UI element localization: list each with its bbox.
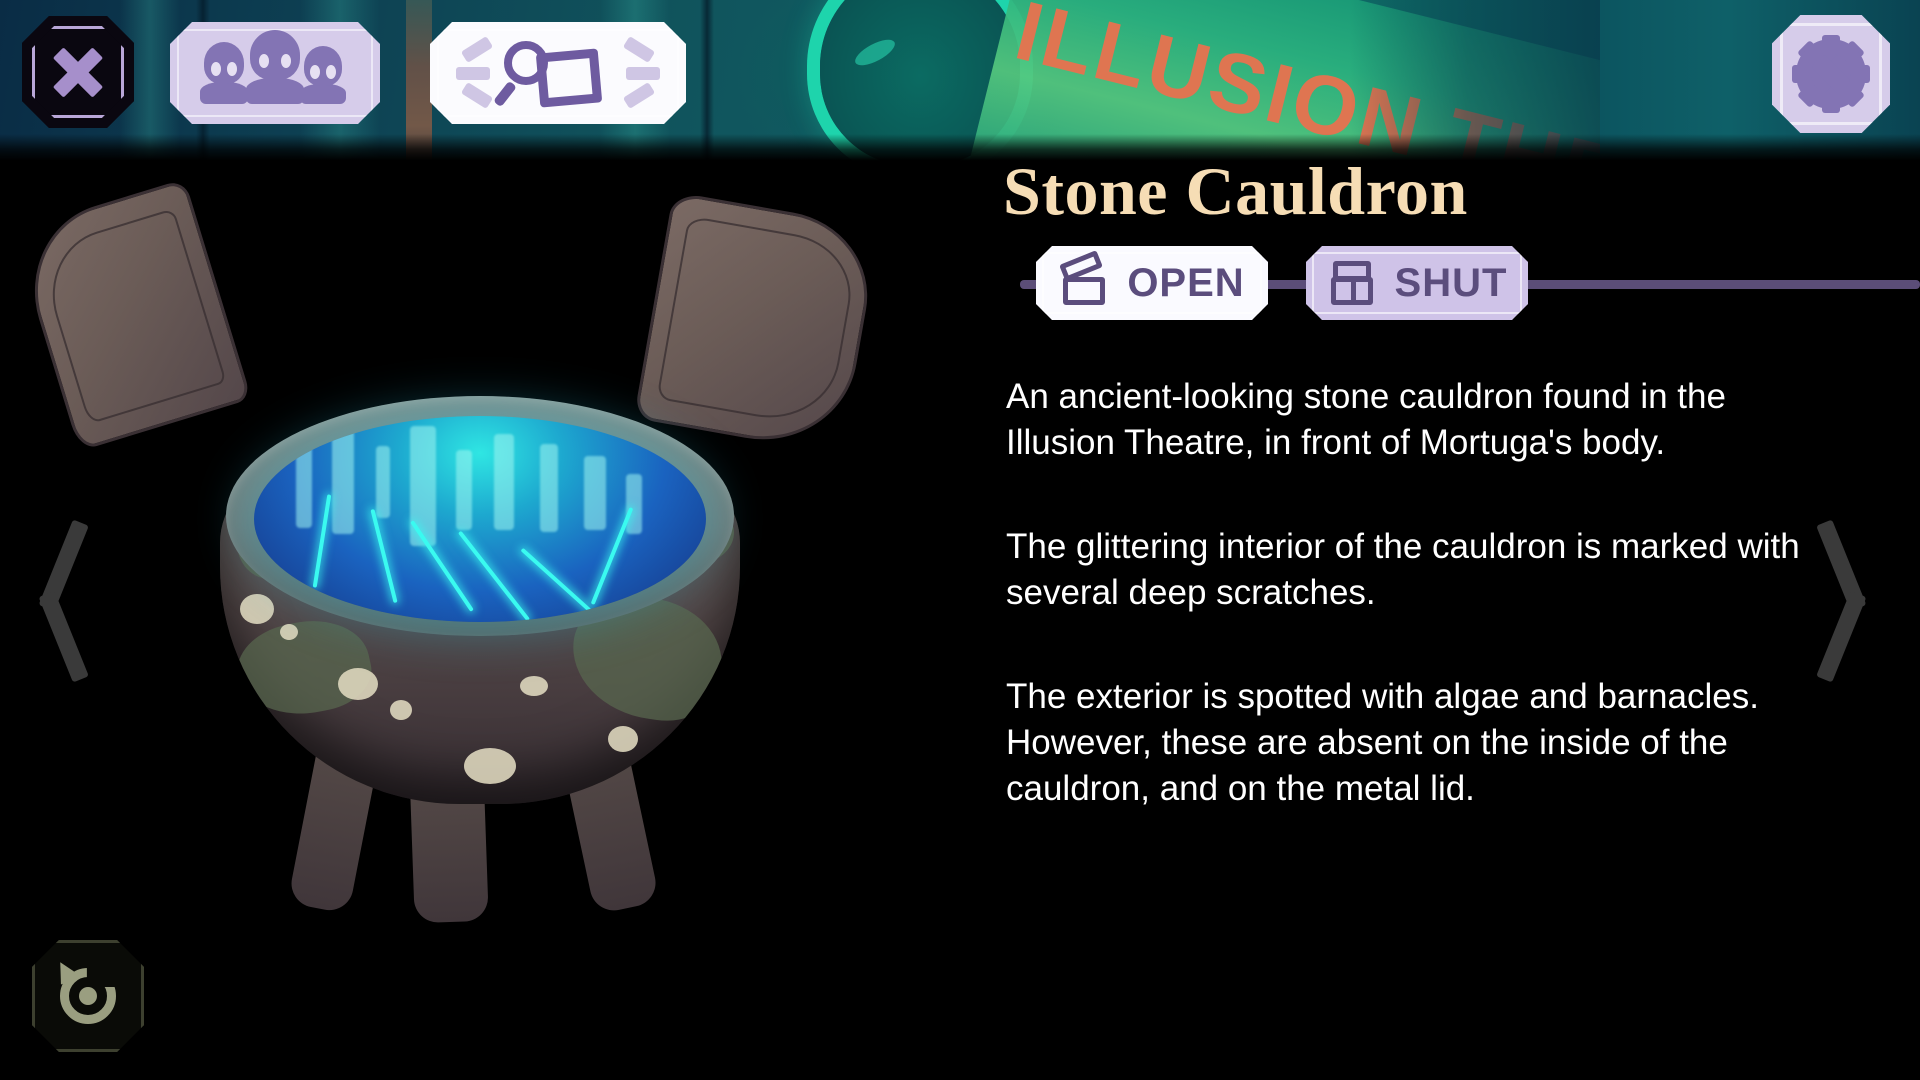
state-button-open[interactable]: OPEN bbox=[1036, 246, 1268, 320]
close-button[interactable] bbox=[22, 16, 134, 128]
settings-button[interactable] bbox=[1772, 15, 1890, 133]
page-title: Stone Cauldron bbox=[1003, 152, 1468, 231]
three-characters-icon bbox=[200, 42, 350, 104]
box-closed-icon bbox=[1327, 259, 1379, 307]
previous-item-arrow[interactable] bbox=[22, 516, 86, 676]
cauldron-interior bbox=[254, 416, 706, 622]
close-x-icon bbox=[51, 45, 105, 99]
gear-icon bbox=[1796, 39, 1866, 109]
cauldron-lid-left bbox=[12, 179, 251, 452]
reset-view-button[interactable] bbox=[32, 940, 144, 1052]
tab-evidence[interactable] bbox=[430, 22, 686, 124]
next-item-arrow[interactable] bbox=[1834, 516, 1898, 676]
box-open-icon bbox=[1059, 259, 1111, 307]
description-paragraph: An ancient-looking stone cauldron found … bbox=[1006, 374, 1826, 466]
state-button-shut[interactable]: SHUT bbox=[1306, 246, 1528, 320]
tab-characters[interactable] bbox=[170, 22, 380, 124]
cauldron-lid-right bbox=[634, 192, 881, 455]
state-button-open-label: OPEN bbox=[1127, 261, 1244, 306]
description-paragraph: The exterior is spotted with algae and b… bbox=[1006, 674, 1826, 812]
cauldron-artwork[interactable] bbox=[20, 190, 890, 910]
magnifier-evidence-icon bbox=[460, 37, 656, 109]
state-button-shut-label: SHUT bbox=[1395, 261, 1508, 306]
description-paragraph: The glittering interior of the cauldron … bbox=[1006, 524, 1826, 616]
wooden-post bbox=[406, 0, 432, 168]
rotate-reset-icon bbox=[56, 964, 120, 1028]
item-description: An ancient-looking stone cauldron found … bbox=[1006, 374, 1826, 812]
item-inspection-screen: ILLUSION THEA bbox=[0, 0, 1920, 1080]
